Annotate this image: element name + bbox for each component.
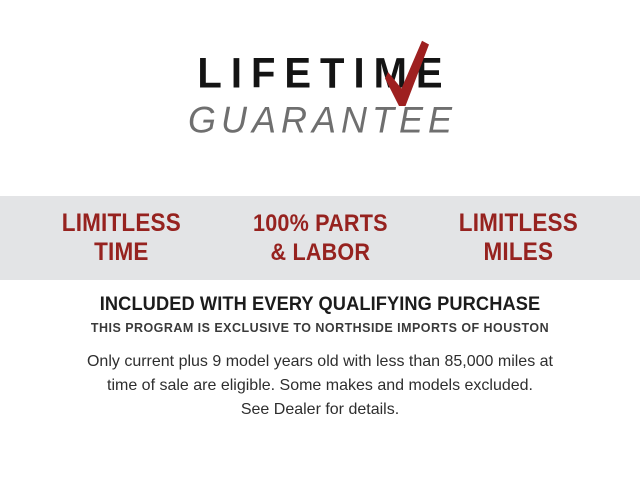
feature-limitless-time-line1: LIMITLESS: [62, 209, 181, 237]
feature-parts-labor-line2: & LABOR: [231, 238, 410, 267]
fineprint-line-3: See Dealer for details.: [30, 398, 610, 422]
logo-lifetime-text: LIFETIME: [197, 50, 451, 97]
lifetime-guarantee-poster: LIFETIME GUARANTEE LIMITLESS TIME 100% P…: [0, 0, 640, 480]
feature-parts-labor: 100% PARTS & LABOR: [231, 209, 410, 267]
feature-limitless-time-line2: TIME: [32, 238, 211, 267]
fineprint-wrapper: Only current plus 9 model years old with…: [0, 350, 640, 422]
fineprint-eligibility: Only current plus 9 model years old with…: [30, 350, 610, 422]
fineprint-line-1: Only current plus 9 model years old with…: [30, 350, 610, 374]
feature-band: LIMITLESS TIME 100% PARTS & LABOR LIMITL…: [0, 196, 640, 280]
logo-lockup: LIFETIME GUARANTEE: [0, 52, 640, 141]
subhead-exclusive-dealer: THIS PROGRAM IS EXCLUSIVE TO NORTHSIDE I…: [13, 319, 627, 337]
logo-wordmark-guarantee: GUARANTEE: [0, 98, 640, 142]
feature-limitless-time: LIMITLESS TIME: [32, 209, 211, 267]
logo-wordmark-lifetime: LIFETIME: [188, 49, 451, 98]
headline-included-with-purchase: INCLUDED WITH EVERY QUALIFYING PURCHASE: [13, 293, 627, 316]
feature-parts-labor-line1: 100% PARTS: [253, 210, 388, 237]
feature-limitless-miles: LIMITLESS MILES: [429, 209, 608, 267]
feature-limitless-miles-line1: LIMITLESS: [459, 209, 578, 237]
bottom-copy-block: INCLUDED WITH EVERY QUALIFYING PURCHASE …: [0, 293, 640, 422]
fineprint-line-2: time of sale are eligible. Some makes an…: [30, 374, 610, 398]
feature-limitless-miles-line2: MILES: [429, 238, 608, 267]
